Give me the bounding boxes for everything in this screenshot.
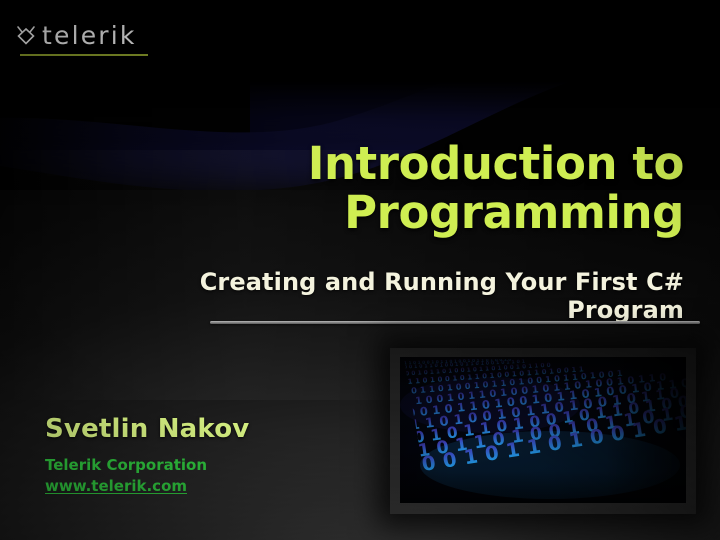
binary-digits-photo: 0010110100101101001011010010010100101101… xyxy=(400,357,686,503)
presentation-slide: telerik Introduction to Programming Crea… xyxy=(0,0,720,540)
title-line-2: Programming xyxy=(84,189,684,238)
svg-text:1: 1 xyxy=(436,369,440,375)
svg-text:1: 1 xyxy=(430,370,434,376)
page-title: Introduction to Programming xyxy=(84,140,684,237)
author-block: Svetlin Nakov Telerik Corporation www.te… xyxy=(45,415,375,496)
author-website-link[interactable]: www.telerik.com xyxy=(45,477,187,496)
svg-text:0: 0 xyxy=(424,370,428,376)
telerik-logo[interactable]: telerik xyxy=(14,20,154,56)
title-divider xyxy=(210,321,700,324)
logo-underline xyxy=(20,54,148,56)
svg-text:0: 0 xyxy=(411,371,415,377)
svg-text:1: 1 xyxy=(414,364,418,370)
svg-text:1: 1 xyxy=(455,362,459,368)
author-name: Svetlin Nakov xyxy=(45,415,375,444)
svg-text:1: 1 xyxy=(417,370,421,376)
svg-text:1: 1 xyxy=(424,363,428,369)
author-organization: Telerik Corporation xyxy=(45,456,375,475)
title-line-1: Introduction to xyxy=(84,140,684,189)
svg-text:1: 1 xyxy=(672,411,686,436)
logo-row: telerik xyxy=(14,20,154,50)
logo-wordmark: telerik xyxy=(42,23,137,48)
telerik-diamond-mark-icon xyxy=(14,24,38,46)
page-subtitle: Creating and Running Your First C# Progr… xyxy=(84,268,684,324)
svg-text:1: 1 xyxy=(429,363,433,369)
svg-text:1: 1 xyxy=(440,363,444,369)
